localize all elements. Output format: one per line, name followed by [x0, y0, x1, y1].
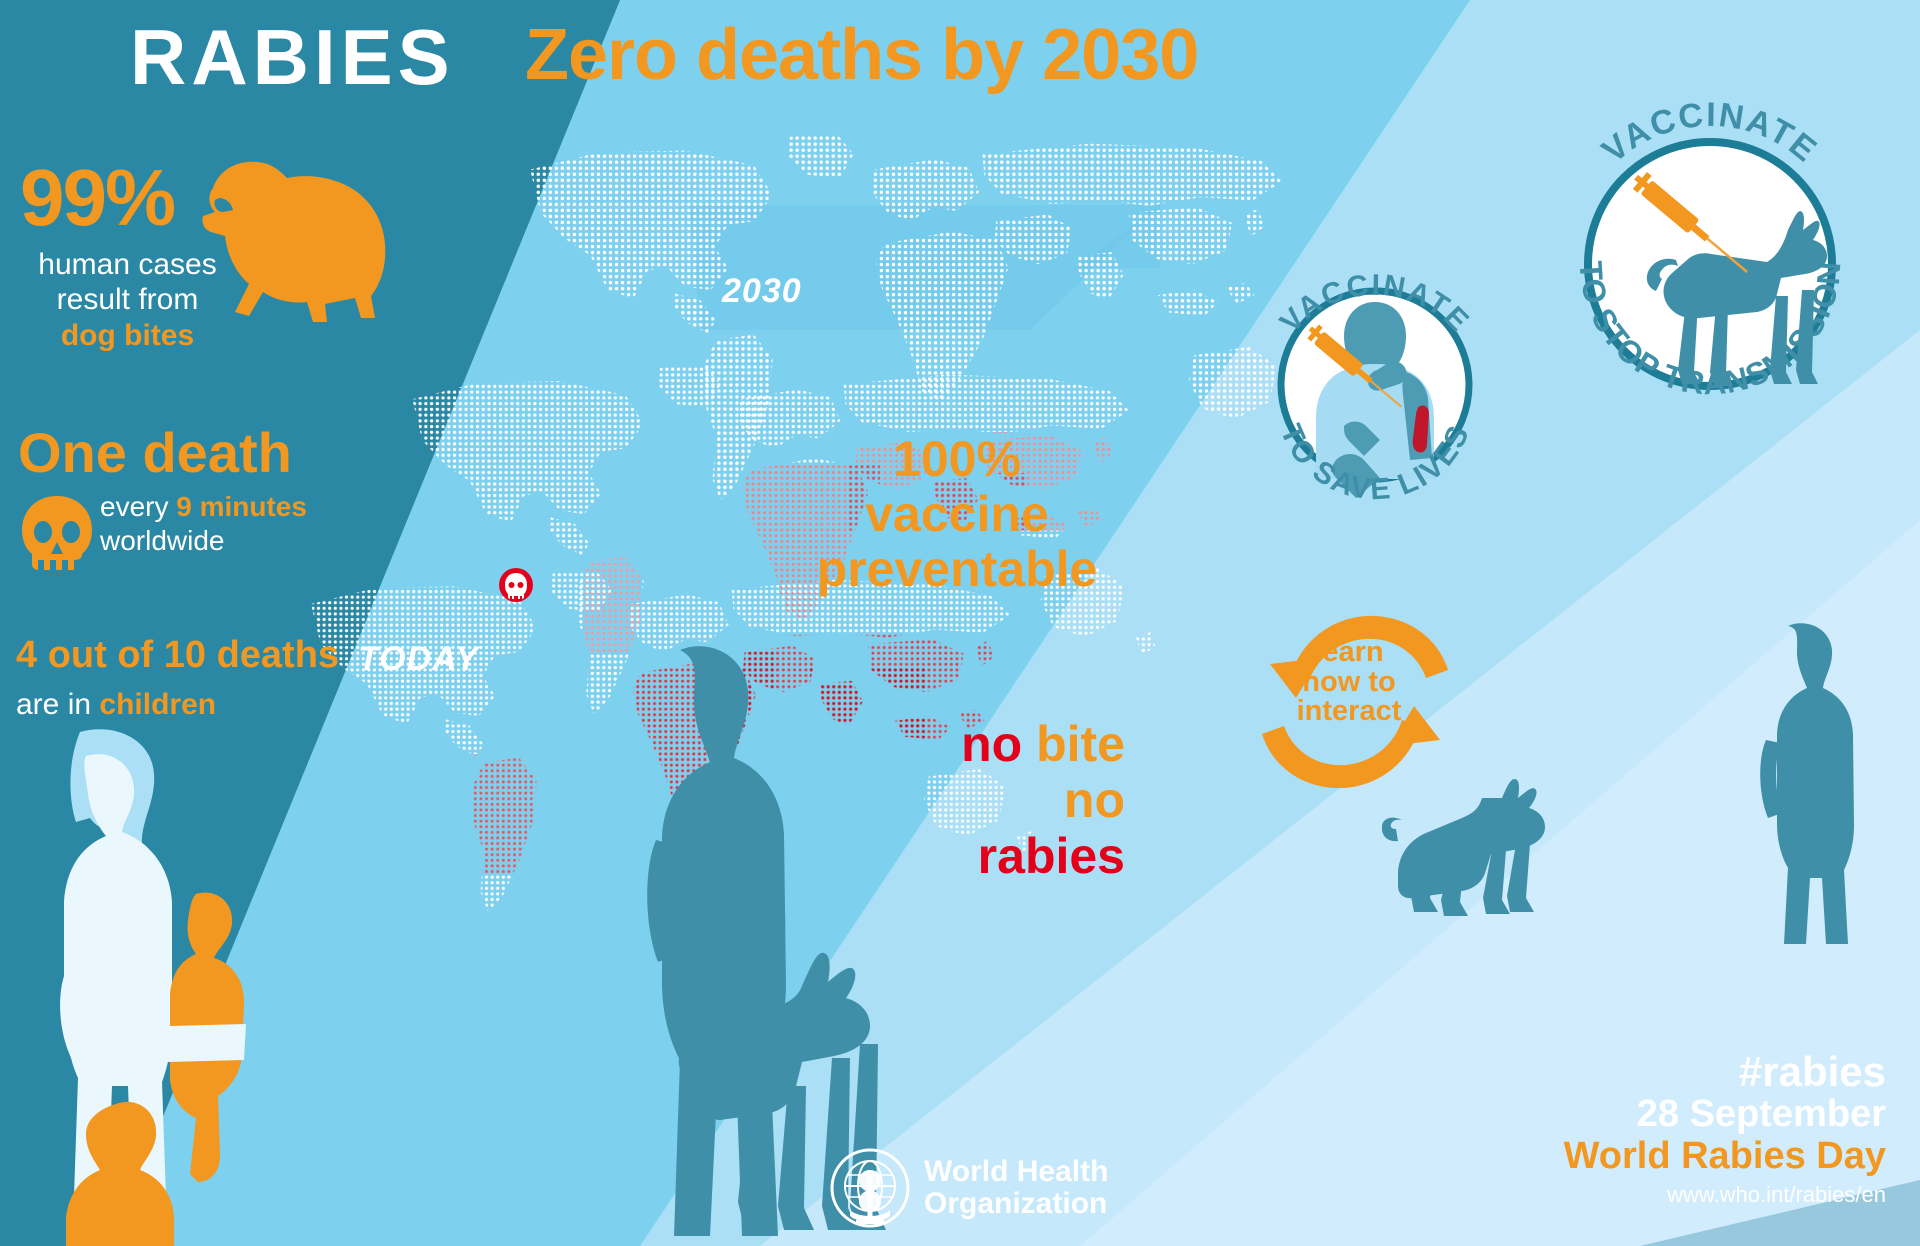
- who-emblem-icon: [830, 1148, 910, 1228]
- stat-children-hl: children: [99, 688, 216, 721]
- headline: Zero deaths by 2030: [525, 14, 1198, 96]
- stat-one-post: worldwide: [100, 524, 307, 558]
- stat-99-figure: 99%: [20, 158, 174, 238]
- stat-one-death-figure: One death: [18, 425, 292, 481]
- stat-99-text: human cases result from dog bites: [20, 247, 235, 353]
- no-bite-no-rabies-message: no bite no rabies: [905, 716, 1125, 884]
- learn-line2: how to: [1290, 668, 1408, 698]
- skull-icon: [18, 494, 96, 578]
- standing-person-silhouette: [1750, 620, 1870, 950]
- footer-date: 28 September: [1564, 1094, 1886, 1136]
- norabies-rabies: rabies: [978, 828, 1125, 884]
- who-logo-text: World Health Organization: [924, 1156, 1108, 1221]
- page-title: RABIES: [130, 12, 455, 103]
- stat-one-death-text: every 9 minutes worldwide: [100, 490, 307, 557]
- vaccine-line1: 100%: [812, 432, 1102, 487]
- stat-one-pre: every: [100, 491, 176, 522]
- learn-line1: learn: [1290, 638, 1408, 668]
- who-line1: World Health: [924, 1156, 1108, 1188]
- badge-save-lives[interactable]: VACCINATE TO SAVE LIVES: [1240, 250, 1510, 520]
- stat-children-figure: 4 out of 10 deaths: [16, 636, 339, 674]
- stat-children-pre: are in: [16, 688, 99, 721]
- stat-99-line3: dog bites: [20, 318, 235, 353]
- stat-children-text: are in children: [16, 688, 216, 722]
- who-line2: Organization: [924, 1188, 1108, 1220]
- footer-block: #rabies 28 September World Rabies Day ww…: [1564, 1050, 1886, 1208]
- stat-one-hl: 9 minutes: [176, 491, 307, 522]
- nobite-no: no: [961, 716, 1022, 772]
- nobite-bite: bite: [1036, 716, 1125, 772]
- stat-99-line2: result from: [20, 282, 235, 317]
- map-label-2030: 2030: [722, 272, 802, 311]
- footer-url[interactable]: www.who.int/rabies/en: [1564, 1182, 1886, 1208]
- vaccine-line2: vaccine: [812, 487, 1102, 542]
- poster-root: RABIES Zero deaths by 2030 99% human cas…: [0, 0, 1920, 1246]
- footer-event: World Rabies Day: [1564, 1136, 1886, 1178]
- vaccine-line3: preventable: [812, 542, 1102, 597]
- learn-line3: interact: [1290, 697, 1408, 727]
- vaccine-preventable-message: 100% vaccine preventable: [812, 432, 1102, 597]
- stat-99-line1: human cases: [20, 247, 235, 282]
- who-logo-block: World Health Organization: [830, 1148, 1108, 1228]
- badge-stop-transmission[interactable]: VACCINATE TO STOP TRANSMISSION: [1540, 88, 1880, 428]
- mother-and-children-icon: [20, 726, 280, 1246]
- map-label-today: TODAY: [358, 640, 479, 679]
- learn-how-to-interact-text: learn how to interact: [1290, 638, 1408, 727]
- norabies-no: no: [1064, 772, 1125, 828]
- footer-hashtag: #rabies: [1564, 1050, 1886, 1094]
- skull-marker-icon: [499, 568, 533, 608]
